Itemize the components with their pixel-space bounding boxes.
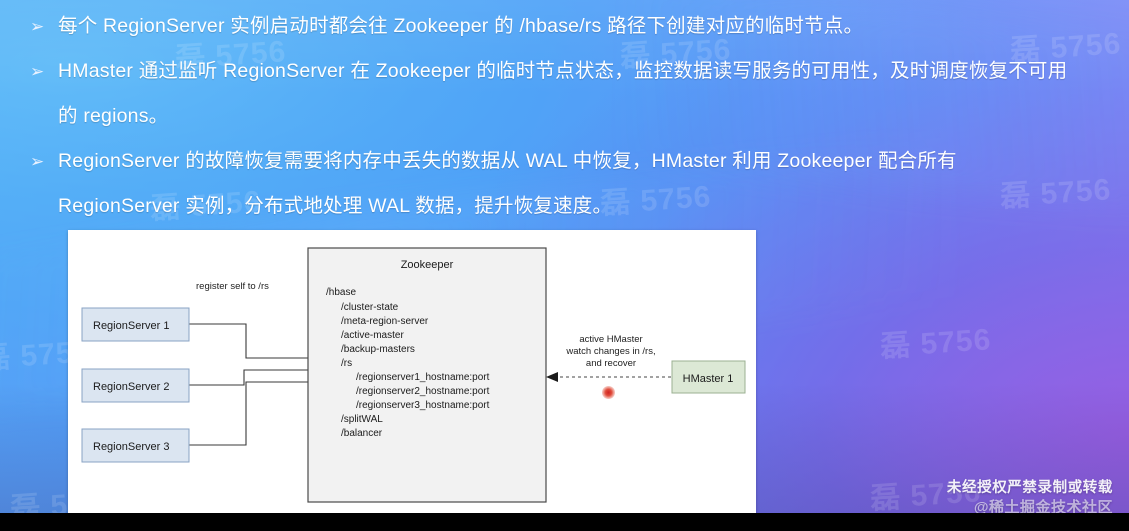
arrowhead-hmaster-watch bbox=[546, 372, 558, 382]
slide-canvas: 磊 5756 磊 5756 磊 5756 磊 5756 磊 5756 磊 575… bbox=[0, 0, 1129, 531]
regionserver-3-label: RegionServer 3 bbox=[93, 441, 169, 453]
regionserver-1-node[interactable]: RegionServer 1 bbox=[82, 308, 189, 341]
footer-credit: 未经授权严禁录制或转载 @稀土掘金技术社区 bbox=[947, 478, 1113, 518]
bullet-item: ➢ HMaster 通过监听 RegionServer 在 Zookeeper … bbox=[30, 49, 1125, 94]
bullet-arrow-icon: ➢ bbox=[30, 49, 58, 94]
zk-tree-item: /balancer bbox=[341, 428, 383, 439]
zk-tree-item: /regionserver3_hostname:port bbox=[356, 400, 490, 411]
zk-tree-item: /hbase bbox=[326, 287, 356, 298]
zk-tree-item: /active-master bbox=[341, 330, 404, 341]
zk-tree-item: /splitWAL bbox=[341, 414, 383, 425]
regionserver-3-node[interactable]: RegionServer 3 bbox=[82, 429, 189, 462]
zookeeper-title: Zookeeper bbox=[401, 259, 454, 271]
edge-rs1-to-zk bbox=[189, 324, 315, 358]
bullet-text: 每个 RegionServer 实例启动时都会往 Zookeeper 的 /hb… bbox=[58, 4, 1125, 49]
zk-tree-item: /cluster-state bbox=[341, 302, 399, 313]
bullet-item: ➢ RegionServer 的故障恢复需要将内存中丢失的数据从 WAL 中恢复… bbox=[30, 139, 1125, 184]
hmaster-watch-label-line-2: watch changes in /rs, bbox=[565, 346, 655, 357]
edge-rs2-to-zk bbox=[189, 370, 315, 385]
bottom-letterbox-bar bbox=[0, 513, 1129, 531]
cursor-pointer-dot bbox=[602, 386, 615, 399]
hmaster-watch-label-line-3: and recover bbox=[586, 358, 636, 369]
watermark: 磊 5756 bbox=[879, 314, 993, 366]
regionserver-2-label: RegionServer 2 bbox=[93, 381, 169, 393]
regionserver-2-node[interactable]: RegionServer 2 bbox=[82, 369, 189, 402]
edge-rs3-to-zk bbox=[189, 382, 315, 445]
hmaster-1-node[interactable]: HMaster 1 bbox=[672, 361, 745, 393]
bullet-text-continuation: 的 regions。 bbox=[58, 94, 1125, 139]
zk-tree-item: /rs bbox=[341, 358, 352, 369]
hmaster-1-label: HMaster 1 bbox=[683, 373, 734, 385]
zk-tree-item: /backup-masters bbox=[341, 344, 415, 355]
zk-tree-item: /meta-region-server bbox=[341, 316, 429, 327]
bullet-text-continuation: RegionServer 实例，分布式地处理 WAL 数据，提升恢复速度。 bbox=[58, 184, 1125, 229]
bullet-text: HMaster 通过监听 RegionServer 在 Zookeeper 的临… bbox=[58, 49, 1125, 94]
regionserver-1-label: RegionServer 1 bbox=[93, 320, 169, 332]
hmaster-watch-label-line-1: active HMaster bbox=[579, 334, 642, 345]
zookeeper-node[interactable]: Zookeeper /hbase /cluster-state /meta-re… bbox=[308, 248, 546, 502]
bullet-list: ➢ 每个 RegionServer 实例启动时都会往 Zookeeper 的 /… bbox=[30, 4, 1125, 229]
bullet-arrow-icon: ➢ bbox=[30, 4, 58, 49]
bullet-text: RegionServer 的故障恢复需要将内存中丢失的数据从 WAL 中恢复，H… bbox=[58, 139, 1125, 184]
architecture-diagram-panel: register self to /rs RegionServer 1 Regi… bbox=[68, 230, 756, 514]
zk-tree-item: /regionserver2_hostname:port bbox=[356, 386, 490, 397]
bullet-arrow-icon: ➢ bbox=[30, 139, 58, 184]
zk-tree-item: /regionserver1_hostname:port bbox=[356, 372, 490, 383]
copyright-notice: 未经授权严禁录制或转载 bbox=[947, 478, 1113, 498]
bullet-item: ➢ 每个 RegionServer 实例启动时都会往 Zookeeper 的 /… bbox=[30, 4, 1125, 49]
architecture-diagram: register self to /rs RegionServer 1 Regi… bbox=[68, 230, 756, 514]
edge-label-register: register self to /rs bbox=[196, 281, 269, 292]
